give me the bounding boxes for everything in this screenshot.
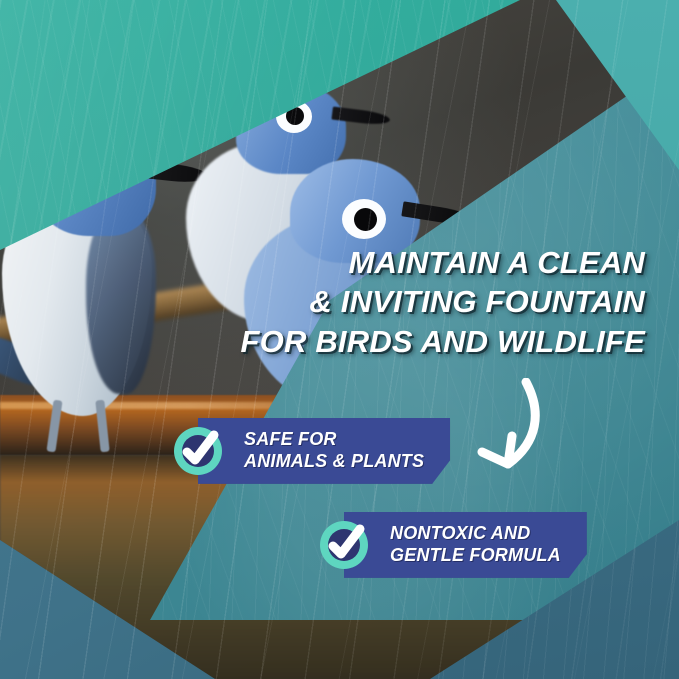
headline-line-3: FOR BIRDS AND WILDLIFE [241,322,646,361]
headline-line-1: MAINTAIN A CLEAN [241,243,646,282]
badge-text: NONTOXIC AND GENTLE FORMULA [390,523,561,567]
bird-pupil [354,208,377,231]
headline-line-2: & INVITING FOUNTAIN [241,282,646,321]
feature-badge-safe-for-animals-and-plants[interactable]: SAFE FOR ANIMALS & PLANTS [170,418,450,484]
check-circle-icon [170,423,226,479]
badge-line-2: GENTLE FORMULA [390,545,561,567]
product-marketing-image: MAINTAIN A CLEAN & INVITING FOUNTAIN FOR… [0,0,679,679]
check-circle-icon [316,517,372,573]
feature-badge-nontoxic-and-gentle-formula[interactable]: NONTOXIC AND GENTLE FORMULA [316,512,587,578]
badge-bar: SAFE FOR ANIMALS & PLANTS [198,418,450,484]
badge-bar: NONTOXIC AND GENTLE FORMULA [344,512,587,578]
badge-line-1: NONTOXIC AND [390,523,561,545]
badge-text: SAFE FOR ANIMALS & PLANTS [244,429,424,473]
badge-line-2: ANIMALS & PLANTS [244,451,424,473]
page-title: MAINTAIN A CLEAN & INVITING FOUNTAIN FOR… [241,243,646,361]
curved-down-left-arrow-icon [438,378,558,498]
badge-line-1: SAFE FOR [244,429,424,451]
